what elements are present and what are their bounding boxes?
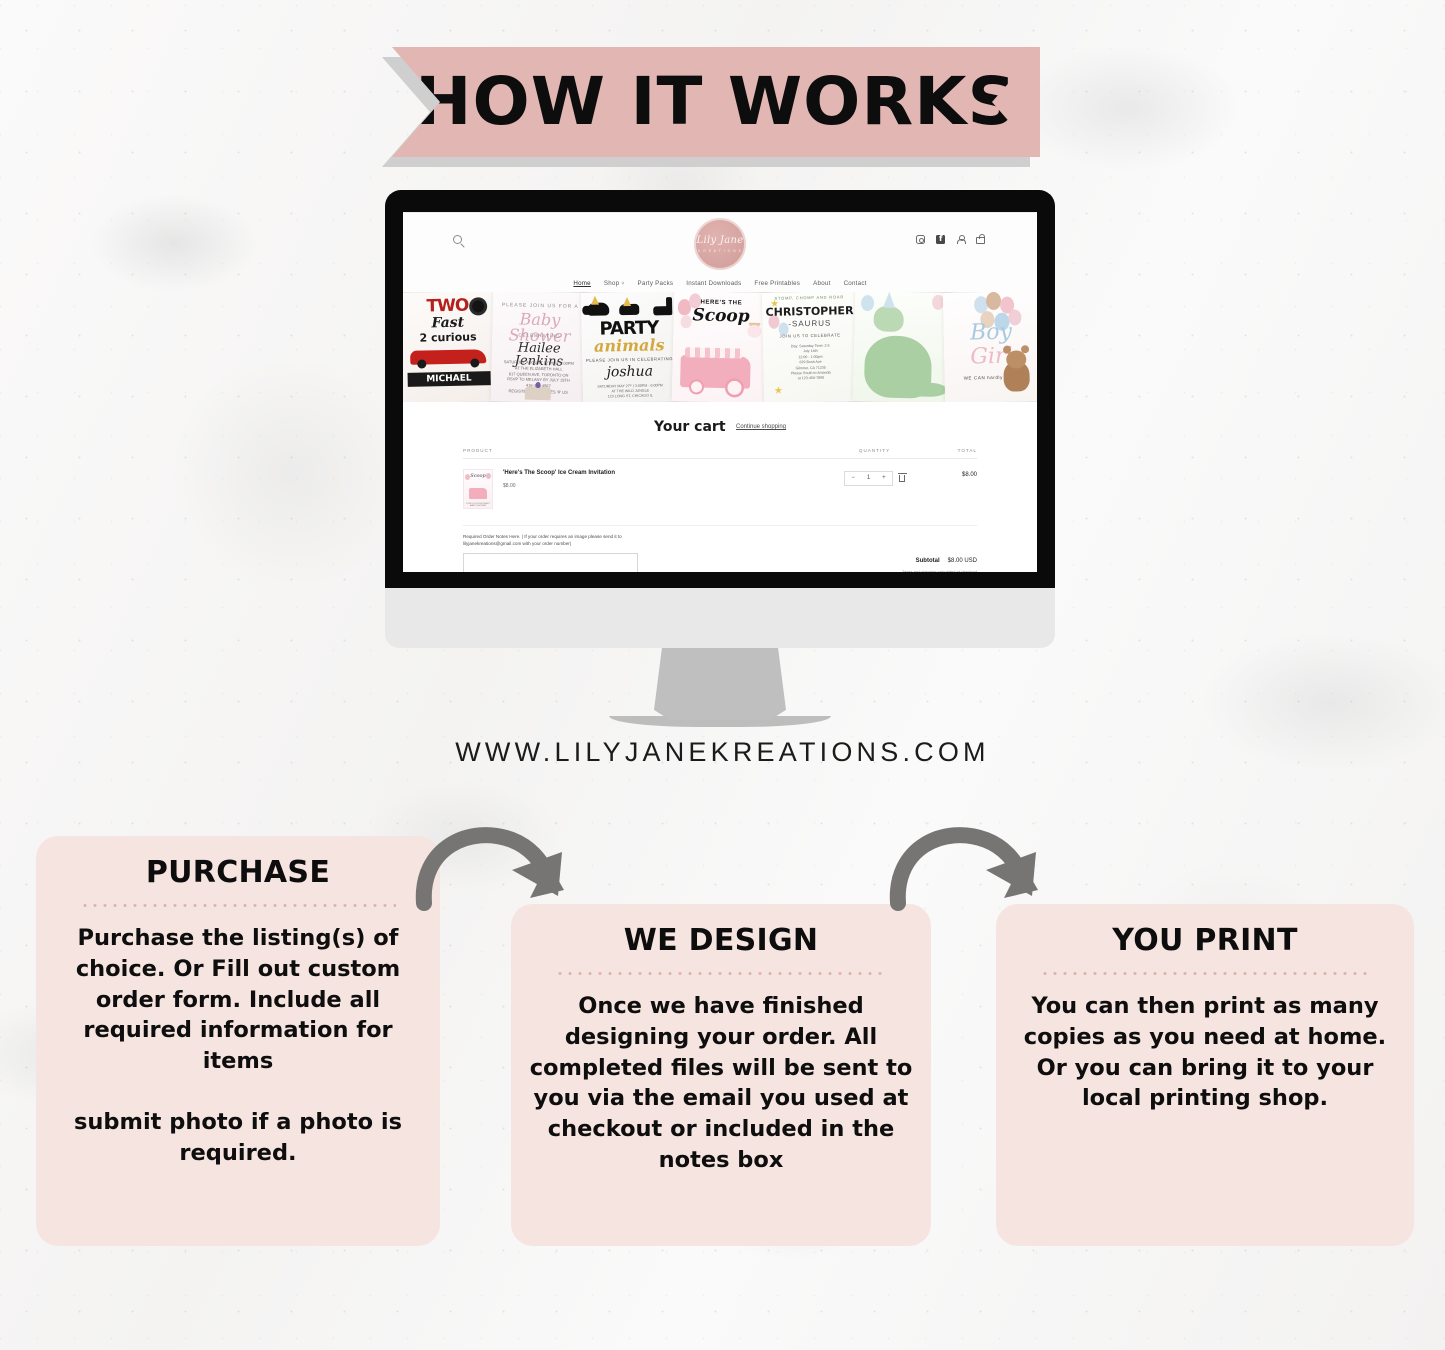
cake-graphic — [525, 387, 551, 401]
monitor-screen: Lily Jane K R E A T I O N S Home Shop˅ P… — [403, 212, 1037, 572]
inv1-name-banner: MICHAEL — [407, 371, 490, 387]
continue-shopping-link[interactable]: Continue shopping — [736, 424, 786, 430]
cart-table-header: PRODUCT QUANTITY TOTAL — [463, 448, 977, 459]
steps-section: PURCHASE Purchase the listing(s) of choi… — [0, 836, 1445, 1286]
nav-item-free-printables[interactable]: Free Printables — [754, 280, 800, 287]
nav-item-party-packs[interactable]: Party Packs — [638, 280, 674, 287]
invitation-card-two-fast: TWO Fast 2 curious MICHAEL — [403, 292, 497, 402]
cart-icon[interactable] — [976, 237, 985, 245]
column-header-product: PRODUCT — [463, 448, 827, 453]
invitation-collage: TWO Fast 2 curious MICHAEL PLEASE JOIN U… — [403, 292, 1037, 402]
invitation-card-dinosaur — [853, 292, 950, 402]
cart-quantity-cell: − 1 + — [827, 469, 922, 486]
inv3-body: SATURDAY MAY 27ᵗʰ | 3:00PM - 6:00PM AT T… — [583, 383, 678, 400]
step-card-purchase: PURCHASE Purchase the listing(s) of choi… — [36, 836, 440, 1246]
inv3-line3: PLEASE JOIN US IN CELEBRATING — [582, 357, 677, 363]
thumbnail-footer: JOIN US FOR A SWEET BABY SHOWER — [464, 503, 492, 507]
cart-summary: Subtotal$8.00 USD Taxes and shipping cal… — [638, 534, 977, 572]
invitation-card-boy-or-girl: Boy Girl WE CAN hardly WAIT! — [943, 292, 1037, 402]
quantity-increment-button[interactable]: + — [876, 471, 892, 486]
giraffe-silhouette — [666, 297, 672, 315]
site-logo-subtitle: K R E A T I O N S — [698, 249, 742, 253]
site-logo[interactable]: Lily Jane K R E A T I O N S — [694, 218, 746, 270]
nav-item-home[interactable]: Home — [573, 280, 591, 287]
inv5-line1: CHRISTOPHER — [762, 305, 857, 318]
search-icon[interactable] — [453, 235, 462, 244]
dinosaur-head-graphic — [873, 305, 904, 332]
inv7-line1: Boy — [944, 321, 1037, 345]
invitation-card-heres-the-scoop: HERE'S THE Scoop — [671, 292, 768, 402]
balloon-graphic — [465, 474, 470, 480]
quantity-stepper[interactable]: − 1 + — [844, 471, 892, 486]
column-header-total: TOTAL — [922, 448, 977, 453]
instagram-icon[interactable] — [916, 235, 925, 244]
cart-title-row: Your cart Continue shopping — [463, 418, 977, 436]
invitation-card-dinosaur-christopher: ★ ★ STOMP, CHOMP AND ROAR CHRISTOPHER -S… — [762, 292, 859, 402]
imac-monitor: Lily Jane K R E A T I O N S Home Shop˅ P… — [385, 190, 1055, 727]
nav-item-about[interactable]: About — [813, 280, 830, 287]
inv5-line3: JOIN US TO CELEBRATE — [763, 333, 858, 339]
banner-region: HOW IT WORKS — [0, 47, 1445, 172]
party-hat-icon — [591, 296, 599, 305]
column-header-quantity: QUANTITY — [827, 448, 922, 453]
inv1-line2: Fast — [403, 315, 495, 331]
site-nav: Home Shop˅ Party Packs Instant Downloads… — [403, 274, 1037, 292]
quantity-input[interactable]: 1 — [861, 471, 876, 486]
step-body-purchase-secondary: submit photo if a photo is required. — [54, 1107, 422, 1169]
site-header: Lily Jane K R E A T I O N S — [403, 212, 1037, 274]
cart-item-price: $8.00 — [503, 483, 827, 489]
cart-item-title[interactable]: 'Here's The Scoop' Ice Cream Invitation — [503, 469, 653, 478]
step-body-you-print: You can then print as many copies as you… — [1014, 991, 1396, 1114]
cart-footer: Required Order Notes Here. | If your ord… — [463, 525, 977, 572]
monitor-bezel: Lily Jane K R E A T I O N S Home Shop˅ P… — [385, 190, 1055, 590]
quantity-decrement-button[interactable]: − — [845, 471, 861, 486]
race-car-graphic — [411, 349, 487, 365]
inv1-line1: TWO — [403, 297, 495, 316]
balloon-graphic — [486, 473, 491, 479]
ice-cream-truck-graphic — [679, 355, 750, 389]
website-url: WWW.LILYJANEKREATIONS.COM — [0, 737, 1445, 768]
inv1-line3: 2 curious — [403, 331, 495, 344]
facebook-icon[interactable] — [936, 235, 945, 244]
tax-note: Taxes and shipping calculated at checkou… — [638, 569, 977, 572]
nav-item-instant-downloads[interactable]: Instant Downloads — [686, 280, 741, 287]
order-notes-input[interactable] — [463, 553, 638, 572]
page-title: HOW IT WORKS — [415, 69, 1017, 135]
step-body-we-design: Once we have finished designing your ord… — [529, 991, 913, 1176]
trash-icon[interactable] — [899, 475, 905, 482]
product-thumbnail[interactable]: Scoop JOIN US FOR A SWEET BABY SHOWER — [463, 469, 493, 509]
step-card-you-print: YOU PRINT You can then print as many cop… — [996, 904, 1414, 1246]
inv5-body: Day: Saturday Time: 2-5 July 14th 12:00 … — [763, 343, 858, 383]
nav-item-contact[interactable]: Contact — [844, 280, 867, 287]
step-title-we-design: WE DESIGN — [529, 926, 913, 956]
step-title-purchase: PURCHASE — [54, 858, 422, 888]
inv5-line0: STOMP, CHOMP AND ROAR — [762, 295, 857, 301]
site-logo-mark: Lily Jane — [697, 236, 744, 246]
cart-item-info: 'Here's The Scoop' Ice Cream Invitation … — [493, 469, 827, 489]
balloon-graphic — [931, 295, 943, 310]
account-icon[interactable] — [956, 235, 965, 244]
cart-page: Your cart Continue shopping PRODUCT QUAN… — [403, 402, 1037, 572]
cart-heading: Your cart — [654, 419, 726, 435]
balloon-graphic — [861, 295, 874, 311]
animal-silhouettes — [581, 295, 676, 319]
ice-cream-truck-graphic — [469, 488, 487, 499]
subtotal-value: $8.00 USD — [948, 558, 977, 564]
invitation-card-baby-shower: PLEASE JOIN US FOR A Baby Shower CELEBRA… — [490, 292, 587, 402]
order-notes-block: Required Order Notes Here. | If your ord… — [463, 534, 638, 572]
banner-ribbon: HOW IT WORKS — [392, 47, 1040, 157]
step-card-we-design: WE DESIGN Once we have finished designin… — [511, 904, 931, 1246]
star-icon: ★ — [774, 386, 783, 397]
subtotal-label: Subtotal — [916, 558, 940, 564]
step-body-purchase: Purchase the listing(s) of choice. Or Fi… — [54, 923, 422, 1077]
party-hat-icon — [623, 297, 631, 306]
teddy-bear-graphic — [1003, 361, 1030, 392]
invitation-card-party-animals: PARTY animals PLEASE JOIN US IN CELEBRAT… — [581, 292, 678, 402]
inv3-name: joshua — [583, 364, 678, 380]
cart-line-total: $8.00 — [922, 469, 977, 478]
dinosaur-graphic — [864, 335, 932, 399]
step-divider — [80, 904, 396, 907]
curved-arrow-purchase-to-design — [412, 818, 587, 928]
curved-arrow-design-to-print — [886, 818, 1061, 928]
party-hat-icon — [883, 292, 895, 308]
step-divider — [1040, 972, 1370, 975]
ice-cream-cone-icon — [748, 323, 760, 338]
cart-line-item-row: Scoop JOIN US FOR A SWEET BABY SHOWER 'H… — [463, 459, 977, 517]
order-notes-label: Required Order Notes Here. | If your ord… — [463, 534, 638, 548]
nav-item-shop-label: Shop — [604, 280, 619, 287]
subtotal-line: Subtotal$8.00 USD — [638, 558, 977, 564]
step-divider — [555, 972, 887, 975]
monitor-chin — [385, 588, 1055, 648]
inv3-line2: animals — [582, 337, 677, 355]
monitor-stand-neck — [654, 648, 786, 720]
inv1-name: MICHAEL — [407, 371, 490, 387]
nav-item-shop[interactable]: Shop˅ — [604, 280, 625, 287]
step-title-you-print: YOU PRINT — [1014, 926, 1396, 956]
inv5-line2: -SAURUS — [763, 319, 858, 329]
chevron-down-icon: ˅ — [621, 281, 624, 287]
social-icon-group — [916, 235, 985, 244]
